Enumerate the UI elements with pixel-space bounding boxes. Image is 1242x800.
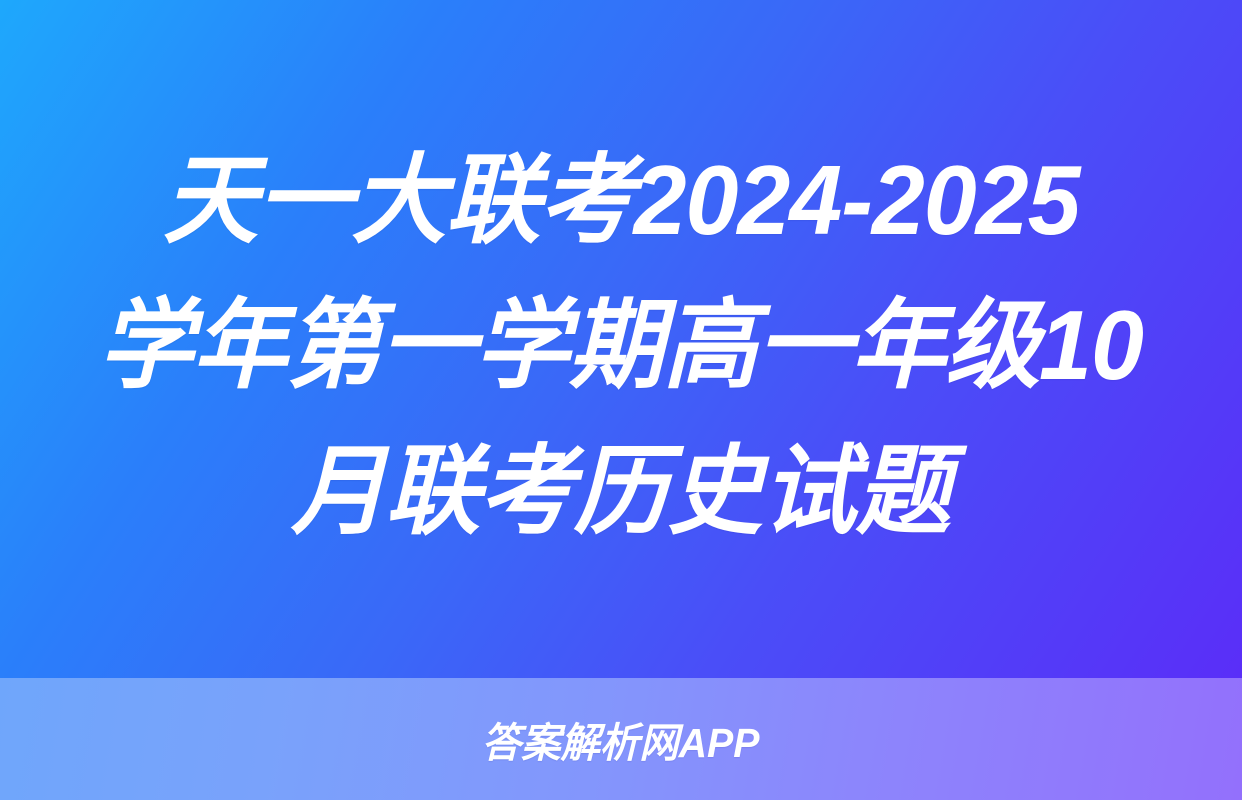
title-line-3: 月联考历史试题: [292, 419, 951, 564]
exam-cover-card: 天一大联考2024-2025 学年第一学期高一年级10 月联考历史试题 答案解析…: [0, 0, 1242, 800]
title-line-1: 天一大联考2024-2025: [163, 128, 1079, 273]
page-title: 天一大联考2024-2025 学年第一学期高一年级10 月联考历史试题: [0, 0, 1242, 678]
app-watermark-label: 答案解析网APP: [482, 709, 760, 769]
title-line-2: 学年第一学期高一年级10: [99, 273, 1144, 418]
footer-band: 答案解析网APP: [0, 678, 1242, 800]
